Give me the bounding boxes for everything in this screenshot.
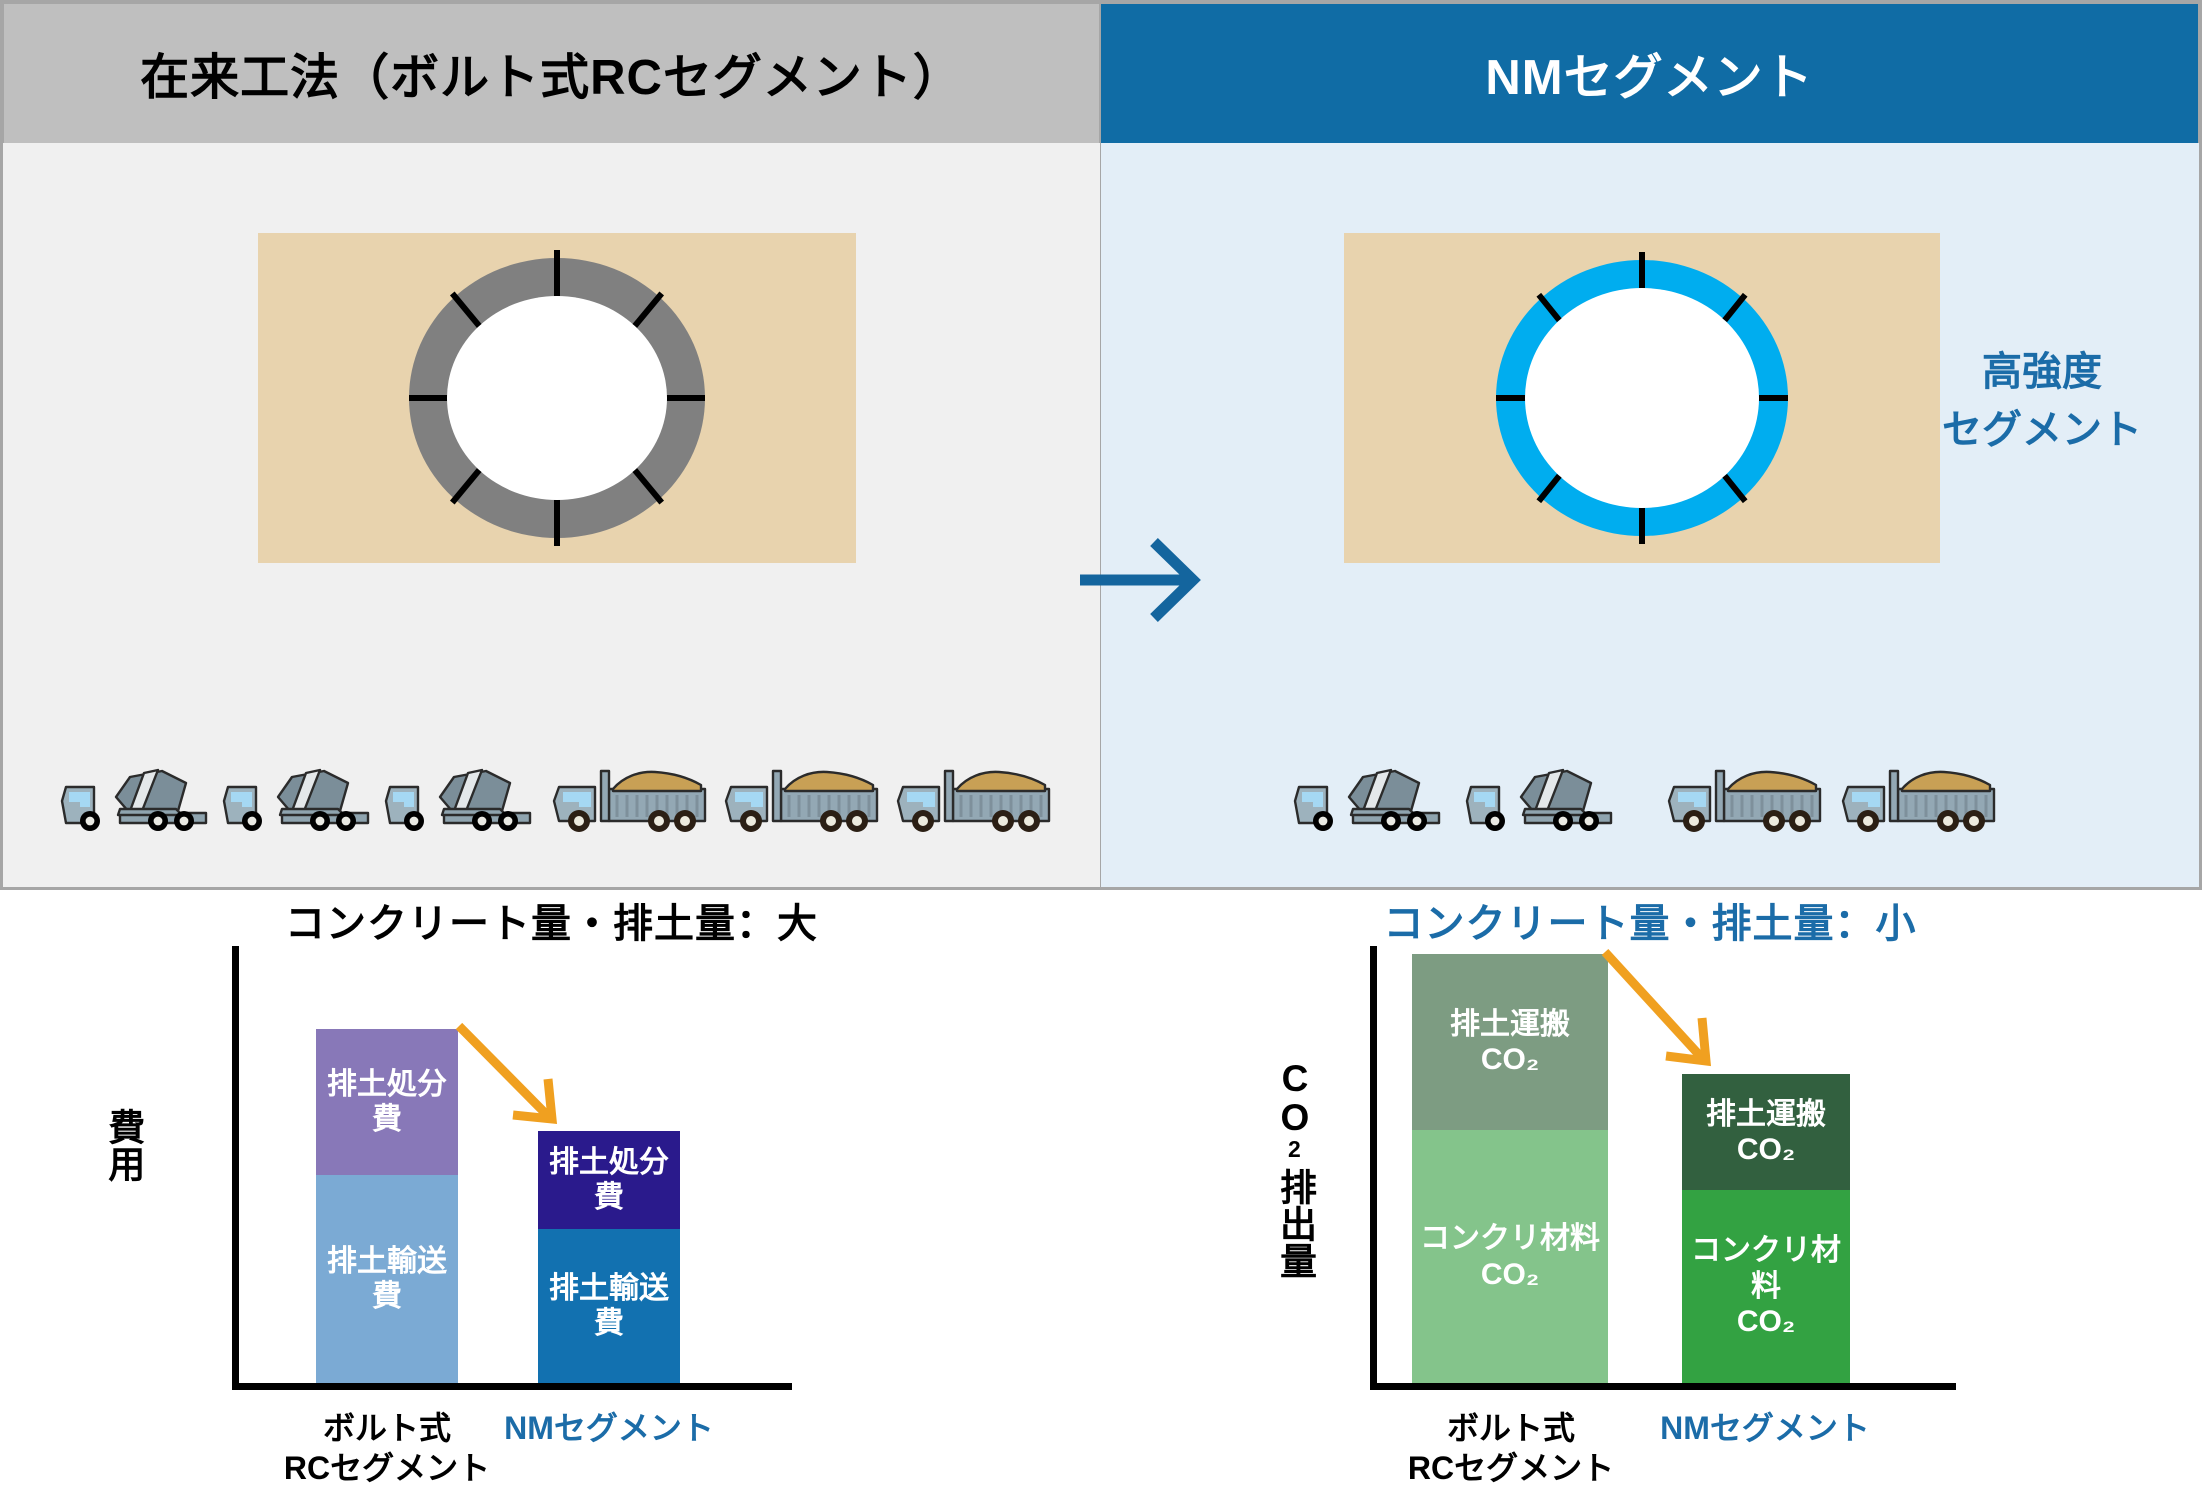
cost-bar-bolt-rc-disposal: 排土処分費 — [316, 1029, 458, 1175]
high-strength-note-line2: セグメント — [1907, 401, 2177, 459]
cost-y-label-text: 費用 — [102, 1108, 143, 1182]
panel-conventional-body: コンクリート量・排土量：大 — [0, 143, 1101, 890]
tunnel-section-nm — [1344, 233, 1940, 563]
co2-seg-label-haul-name: 排土運搬 — [1450, 1007, 1570, 1042]
co2-bar-bolt-rc-material: コンクリ材料 CO₂ — [1412, 1130, 1608, 1383]
dump-truck-icon — [1666, 755, 1826, 833]
cost-seg-label-transport: 排土輸送費 — [316, 1244, 458, 1315]
co2-chart-x-axis — [1370, 1383, 1956, 1390]
cost-x-label-nm-line1: NMセグメント — [478, 1408, 740, 1448]
cost-seg-label-disposal: 排土処分費 — [316, 1067, 458, 1138]
right-arrow-icon — [1080, 525, 1210, 635]
cost-bar-nm-disposal: 排土処分費 — [538, 1131, 680, 1229]
mixer-truck-group-nm — [1291, 761, 1615, 831]
co2-seg-label-material-name: コンクリ材料 — [1682, 1233, 1850, 1304]
panel-conventional: 在来工法（ボルト式RCセグメント） — [0, 0, 1101, 890]
co2-bar-bolt-rc: 排土運搬 CO₂ コンクリ材料 CO₂ — [1412, 954, 1608, 1383]
co2-seg-label-material-unit: CO₂ — [1737, 1304, 1795, 1339]
dump-truck-icon — [1840, 755, 2000, 833]
co2-chart-y-axis — [1370, 946, 1377, 1390]
co2-y-label-co2: CO2 — [1274, 1058, 1315, 1160]
co2-seg-label-material-unit: CO₂ — [1481, 1257, 1539, 1292]
co2-y-label-main: CO — [1274, 1058, 1315, 1136]
co2-seg-label-material-name: コンクリ材料 — [1420, 1221, 1600, 1256]
panel-nm-segment-header: NMセグメント — [1101, 0, 2202, 143]
cost-bar-nm: 排土処分費 排土輸送費 — [538, 1131, 680, 1383]
co2-x-label-bolt-rc-line2: RCセグメント — [1380, 1448, 1642, 1488]
dump-truck-icon — [551, 755, 711, 833]
mixer-truck-icon — [220, 761, 372, 831]
dump-truck-group-nm — [1666, 755, 2000, 833]
co2-x-label-bolt-rc-line1: ボルト式 — [1380, 1408, 1642, 1448]
mixer-truck-icon — [382, 761, 534, 831]
co2-bar-nm-haul: 排土運搬 CO₂ — [1682, 1074, 1850, 1190]
dump-truck-group-conventional — [551, 755, 1055, 833]
comparison-panels: 在来工法（ボルト式RCセグメント） — [0, 0, 2202, 890]
cost-bar-bolt-rc: 排土処分費 排土輸送費 — [316, 1029, 458, 1383]
co2-bar-nm-material: コンクリ材料 CO₂ — [1682, 1190, 1850, 1383]
co2-seg-label-haul-name: 排土運搬 — [1706, 1097, 1826, 1132]
cost-x-label-nm: NMセグメント — [478, 1408, 740, 1448]
co2-bar-nm: 排土運搬 CO₂ コンクリ材料 CO₂ — [1682, 1074, 1850, 1383]
high-strength-note: 高強度 セグメント — [1907, 343, 2177, 459]
high-strength-note-line1: 高強度 — [1907, 343, 2177, 401]
tunnel-ring-gray-icon — [258, 233, 856, 563]
co2-y-label-rest: 排出量 — [1274, 1168, 1315, 1279]
chart-cost: 費用 排土処分費 排土輸送費 排土処分費 排土輸送費 ボルト式 RCセグメント … — [60, 930, 1060, 1508]
cost-chart-x-axis — [232, 1383, 792, 1390]
chart-co2: CO2 排出量 排土運搬 CO₂ コンクリ材料 CO₂ 排土運搬 CO₂ コンク… — [1170, 930, 2180, 1508]
co2-chart-y-label: CO2 排出量 — [1274, 1058, 1326, 1279]
cost-x-label-bolt-rc-line2: RCセグメント — [256, 1448, 518, 1488]
dump-truck-icon — [895, 755, 1055, 833]
co2-x-label-nm-line1: NMセグメント — [1634, 1408, 1896, 1448]
mixer-truck-icon — [1291, 761, 1443, 831]
cost-decrease-arrow-icon — [456, 1022, 566, 1130]
co2-y-label-sub: 2 — [1281, 1136, 1307, 1160]
cost-bar-nm-transport: 排土輸送費 — [538, 1229, 680, 1383]
tunnel-section-conventional — [258, 233, 856, 563]
cost-chart-y-axis — [232, 946, 239, 1390]
panel-nm-segment: NMセグメント — [1101, 0, 2202, 890]
panel-nm-segment-body: 高強度 セグメント — [1101, 143, 2202, 890]
co2-x-label-nm: NMセグメント — [1634, 1408, 1896, 1448]
mixer-truck-icon — [58, 761, 210, 831]
tunnel-ring-blue-icon — [1344, 233, 1940, 563]
cost-bar-bolt-rc-transport: 排土輸送費 — [316, 1175, 458, 1383]
co2-decrease-arrow-icon — [1602, 948, 1720, 1072]
dump-truck-icon — [723, 755, 883, 833]
co2-bar-bolt-rc-haul: 排土運搬 CO₂ — [1412, 954, 1608, 1130]
cost-seg-label-transport: 排土輸送費 — [538, 1271, 680, 1342]
mixer-truck-icon — [1463, 761, 1615, 831]
cost-chart-y-label: 費用 — [100, 1108, 146, 1190]
co2-seg-label-haul-unit: CO₂ — [1737, 1132, 1795, 1167]
mixer-truck-group-conventional — [58, 761, 534, 831]
cost-seg-label-disposal: 排土処分費 — [538, 1145, 680, 1216]
panel-conventional-header: 在来工法（ボルト式RCセグメント） — [0, 0, 1101, 143]
co2-seg-label-haul-unit: CO₂ — [1481, 1042, 1539, 1077]
co2-x-label-bolt-rc: ボルト式 RCセグメント — [1380, 1408, 1642, 1488]
